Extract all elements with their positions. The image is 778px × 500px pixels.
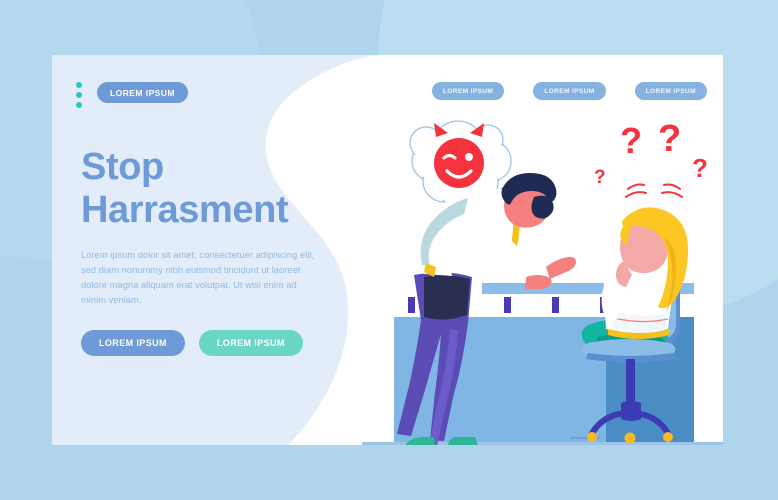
top-navigation-bar: LOREM IPSUM LOREM IPSUM LOREM IPSUM LORE… bbox=[52, 55, 723, 131]
nav-pill-group: LOREM IPSUM LOREM IPSUM LOREM IPSUM bbox=[432, 82, 707, 100]
cta-button-group: LOREM IPSUM LOREM IPSUM bbox=[81, 330, 341, 356]
nav-item-1[interactable]: LOREM IPSUM bbox=[432, 82, 504, 100]
headline-line-2: Harrasment bbox=[81, 189, 341, 232]
dot-1 bbox=[76, 82, 82, 88]
hero-illustration: ? ? ? ? bbox=[362, 85, 723, 445]
nav-item-3[interactable]: LOREM IPSUM bbox=[635, 82, 707, 100]
motion-lines bbox=[626, 185, 682, 198]
question-mark-3: ? bbox=[692, 153, 708, 183]
landing-page-mockup: LOREM IPSUM LOREM IPSUM LOREM IPSUM LORE… bbox=[0, 0, 778, 500]
brand-logo-button[interactable]: LOREM IPSUM bbox=[97, 82, 188, 103]
cta-secondary-button[interactable]: LOREM IPSUM bbox=[199, 330, 303, 356]
cta-primary-button[interactable]: LOREM IPSUM bbox=[81, 330, 185, 356]
hero-card: LOREM IPSUM LOREM IPSUM LOREM IPSUM LORE… bbox=[52, 55, 723, 445]
dot-3 bbox=[76, 102, 82, 108]
question-mark-4: ? bbox=[594, 167, 606, 188]
three-dots-icon[interactable] bbox=[74, 82, 84, 108]
hero-body-text: Lorem ipsum dolor sit amet, consectetuer… bbox=[81, 248, 319, 307]
nav-item-2[interactable]: LOREM IPSUM bbox=[533, 82, 605, 100]
hero-copy-block: Stop Harrasment Lorem ipsum dolor sit am… bbox=[81, 146, 341, 356]
page-title: Stop Harrasment bbox=[81, 146, 341, 231]
man-head bbox=[502, 173, 557, 228]
headline-line-1: Stop bbox=[81, 146, 164, 188]
dot-2 bbox=[76, 92, 82, 98]
